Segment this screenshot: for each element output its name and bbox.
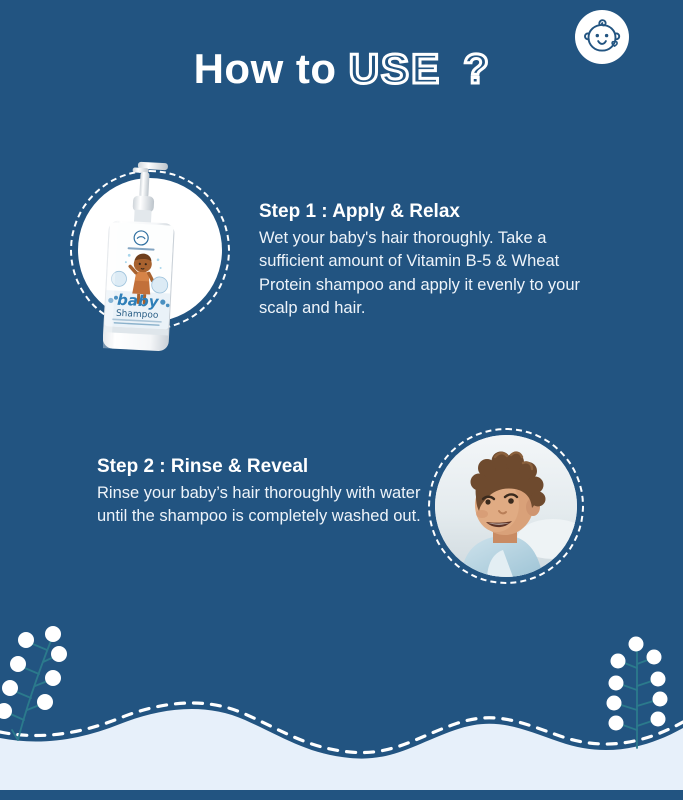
step-1-media: baby Shampoo bbox=[70, 160, 245, 360]
shampoo-bottle-illustration: baby Shampoo bbox=[103, 160, 181, 360]
title-part-2: USE bbox=[349, 45, 441, 92]
step-1-body: Wet your baby's hair thoroughly. Take a … bbox=[259, 227, 609, 321]
page-title: How to USE ? bbox=[0, 48, 683, 90]
step-1-heading: Step 1 : Apply & Relax bbox=[259, 200, 460, 224]
step-2-media bbox=[428, 428, 584, 584]
step-2-body: Rinse your baby’s hair thoroughly with w… bbox=[97, 482, 427, 529]
bottom-accent-strip bbox=[0, 790, 683, 800]
baby-dashed-ring bbox=[428, 428, 584, 584]
infographic-canvas: How to USE ? bbox=[0, 0, 683, 800]
title-part-1: How to bbox=[194, 45, 337, 92]
title-question-mark: ? bbox=[463, 45, 489, 92]
wavy-divider bbox=[0, 620, 683, 800]
step-2-heading: Step 2 : Rinse & Reveal bbox=[97, 455, 308, 479]
botanical-sprig-right bbox=[600, 630, 674, 750]
botanical-sprig-left bbox=[0, 612, 76, 742]
svg-text:baby: baby bbox=[117, 291, 160, 311]
